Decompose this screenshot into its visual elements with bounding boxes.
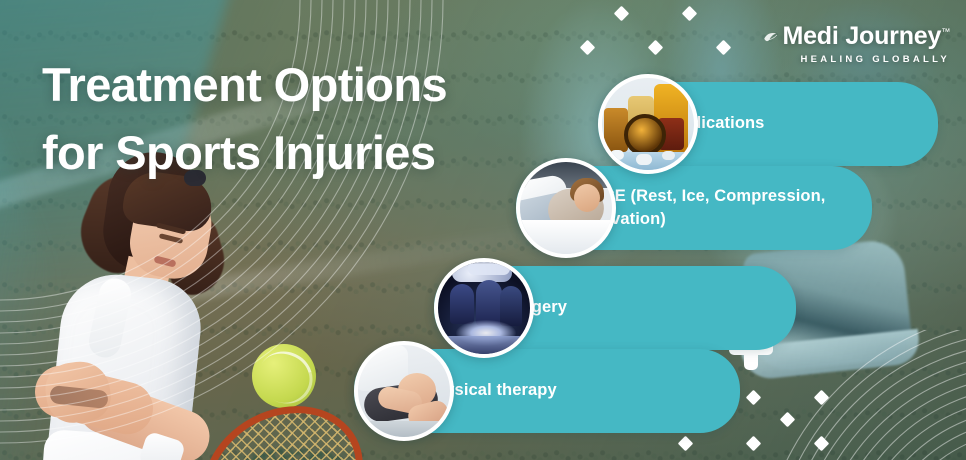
tennis-ball-seam [249,342,322,414]
resting-in-bed-photo [516,158,616,258]
treatment-item-physical-therapy[interactable]: Physical therapy [354,349,740,433]
injured-tennis-player [14,148,314,460]
operating-room-photo [434,258,534,358]
brand-logo[interactable]: Medi Journey™ HEALING GLOBALLY [762,24,950,65]
brand-tagline: HEALING GLOBALLY [762,54,950,65]
treatment-item-rice[interactable]: RICE (Rest, Ice, Compression, Elevation) [516,166,872,250]
brand-name-text: Medi Journey [782,22,941,50]
treatment-item-surgery[interactable]: Surgery [434,266,796,350]
brand-name: Medi Journey™ [782,24,950,49]
knee-physiotherapy-photo [354,341,454,441]
treatment-item-medications[interactable]: Medications [598,82,938,166]
medication-bottles-photo [598,74,698,174]
dove-icon [762,30,780,46]
trademark-symbol: ™ [941,27,950,37]
infographic-banner: Treatment Options for Sports Injuries Me… [0,0,966,460]
page-title-line-1: Treatment Options [42,58,447,111]
treatment-label: RICE (Rest, Ice, Compression, Elevation) [586,185,846,232]
